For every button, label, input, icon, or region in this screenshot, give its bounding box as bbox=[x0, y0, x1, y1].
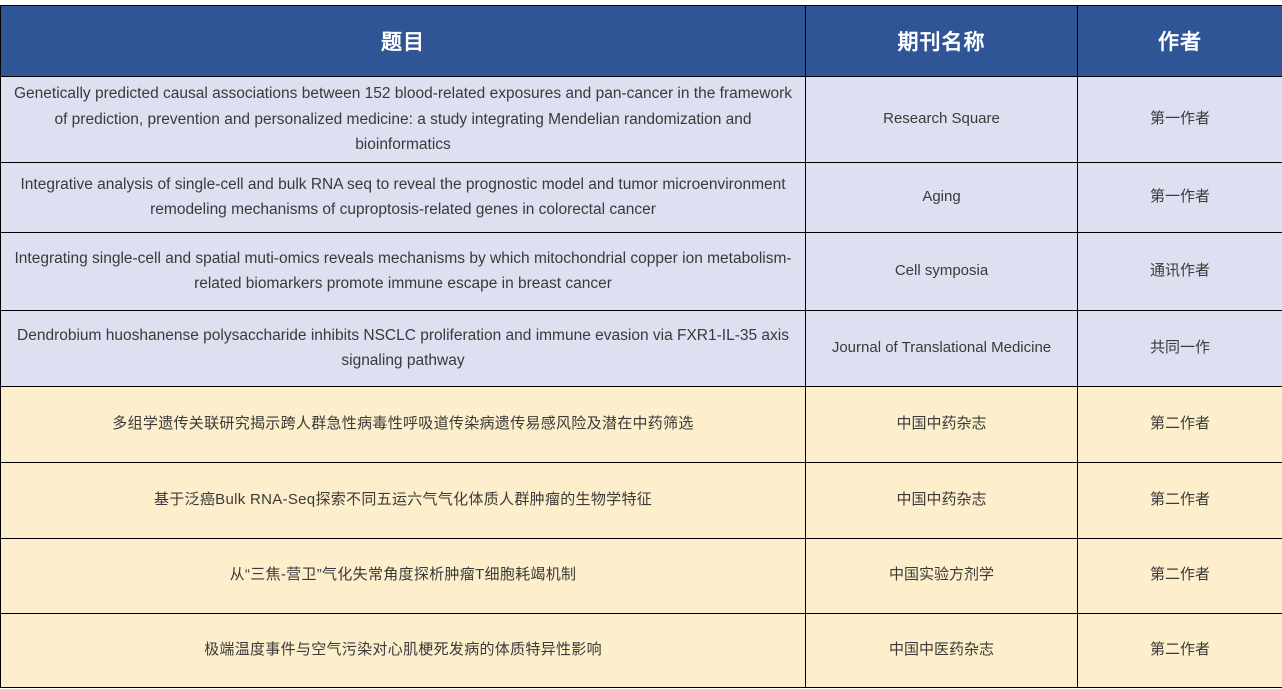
cell-author: 第二作者 bbox=[1078, 462, 1282, 538]
cell-journal: Cell symposia bbox=[806, 232, 1078, 310]
table-row: 基于泛癌Bulk RNA-Seq探索不同五运六气气化体质人群肿瘤的生物学特征 中… bbox=[1, 462, 1282, 538]
cell-title: Dendrobium huoshanense polysaccharide in… bbox=[1, 310, 806, 386]
table-row: Dendrobium huoshanense polysaccharide in… bbox=[1, 310, 1282, 386]
cell-author: 第二作者 bbox=[1078, 386, 1282, 462]
table-row: Integrating single-cell and spatial muti… bbox=[1, 232, 1282, 310]
cell-author: 第一作者 bbox=[1078, 162, 1282, 232]
cell-journal: 中国中药杂志 bbox=[806, 462, 1078, 538]
cell-author: 共同一作 bbox=[1078, 310, 1282, 386]
cell-title: Integrating single-cell and spatial muti… bbox=[1, 232, 806, 310]
cell-author: 第二作者 bbox=[1078, 538, 1282, 613]
cell-title: Integrative analysis of single-cell and … bbox=[1, 162, 806, 232]
cell-author: 第二作者 bbox=[1078, 613, 1282, 687]
table-row: 多组学遗传关联研究揭示跨人群急性病毒性呼吸道传染病遗传易感风险及潜在中药筛选 中… bbox=[1, 386, 1282, 462]
column-header-author[interactable]: 作者 bbox=[1078, 6, 1282, 77]
cell-author: 第一作者 bbox=[1078, 77, 1282, 163]
header-row: 题目 期刊名称 作者 bbox=[1, 6, 1282, 77]
table-row: 从“三焦-营卫”气化失常角度探析肿瘤T细胞耗竭机制 中国实验方剂学 第二作者 bbox=[1, 538, 1282, 613]
cell-title: 从“三焦-营卫”气化失常角度探析肿瘤T细胞耗竭机制 bbox=[1, 538, 806, 613]
cell-journal: Journal of Translational Medicine bbox=[806, 310, 1078, 386]
cell-journal: Research Square bbox=[806, 77, 1078, 163]
publications-table-sheet: 题目 期刊名称 作者 Genetically predicted causal … bbox=[0, 0, 1282, 689]
table-row: Genetically predicted causal association… bbox=[1, 77, 1282, 163]
table-row: 极端温度事件与空气污染对心肌梗死发病的体质特异性影响 中国中医药杂志 第二作者 bbox=[1, 613, 1282, 687]
cell-title: 极端温度事件与空气污染对心肌梗死发病的体质特异性影响 bbox=[1, 613, 806, 687]
publications-table: 题目 期刊名称 作者 Genetically predicted causal … bbox=[0, 5, 1282, 688]
cell-author: 通讯作者 bbox=[1078, 232, 1282, 310]
table-row: Integrative analysis of single-cell and … bbox=[1, 162, 1282, 232]
table-body: Genetically predicted causal association… bbox=[1, 77, 1282, 688]
cell-journal: Aging bbox=[806, 162, 1078, 232]
column-header-title[interactable]: 题目 bbox=[1, 6, 806, 77]
cell-title: 多组学遗传关联研究揭示跨人群急性病毒性呼吸道传染病遗传易感风险及潜在中药筛选 bbox=[1, 386, 806, 462]
cell-journal: 中国中药杂志 bbox=[806, 386, 1078, 462]
column-header-journal[interactable]: 期刊名称 bbox=[806, 6, 1078, 77]
cell-title: Genetically predicted causal association… bbox=[1, 77, 806, 163]
table-header: 题目 期刊名称 作者 bbox=[1, 6, 1282, 77]
cell-journal: 中国中医药杂志 bbox=[806, 613, 1078, 687]
cell-title: 基于泛癌Bulk RNA-Seq探索不同五运六气气化体质人群肿瘤的生物学特征 bbox=[1, 462, 806, 538]
cell-journal: 中国实验方剂学 bbox=[806, 538, 1078, 613]
